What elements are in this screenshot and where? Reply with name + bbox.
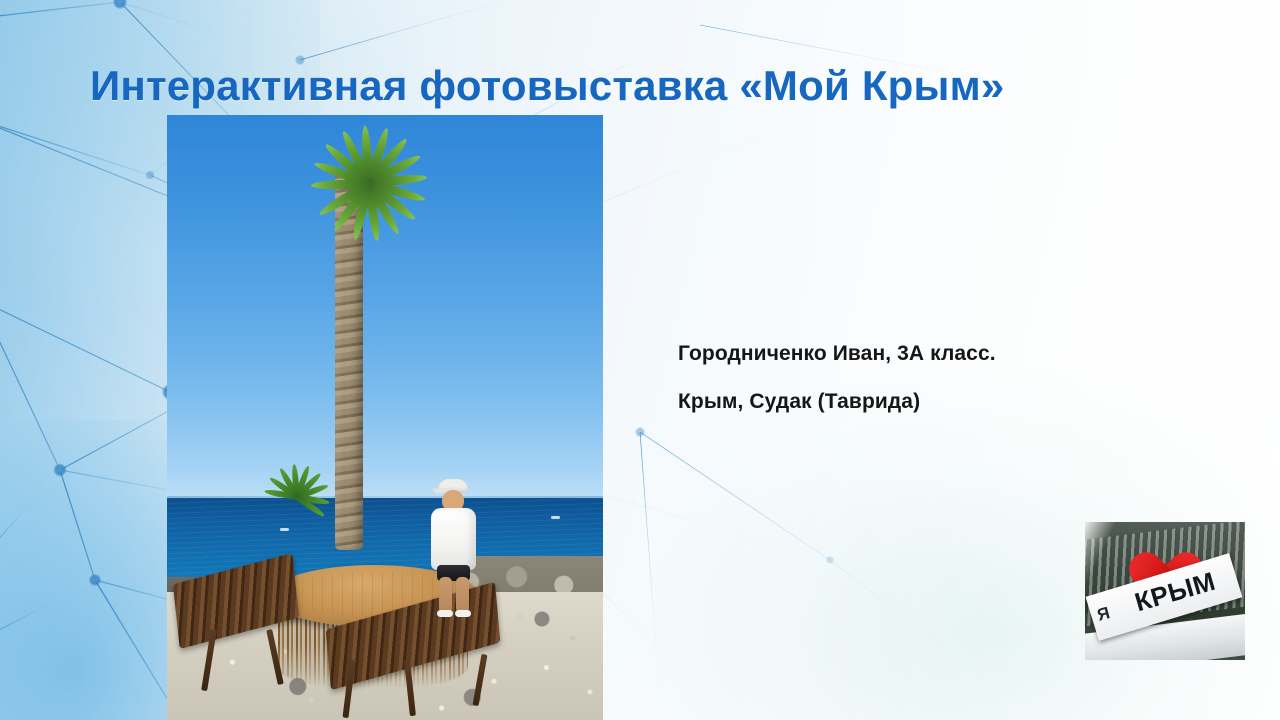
photo-palm-crown [311, 127, 431, 237]
photo-boat [280, 528, 289, 531]
exhibition-photo [167, 115, 603, 720]
photo-person-shirt [431, 508, 476, 570]
i-love-crimea-logo: Я КРЫМ [1085, 522, 1245, 660]
photo-person-sandal [455, 610, 471, 617]
photo-person [424, 479, 486, 619]
caption-line-location: Крым, Судак (Таврида) [678, 378, 1198, 426]
presentation-slide: Интерактивная фотовыставка «Мой Крым» [0, 0, 1280, 720]
logo-word-ya: Я [1095, 603, 1112, 625]
photo-small-palm-bush [263, 470, 333, 522]
photo-person-leg [439, 577, 452, 613]
photo-person-leg [456, 577, 469, 613]
photo-content [167, 115, 603, 720]
caption-line-author: Городниченко Иван, 3А класс. [678, 330, 1198, 378]
slide-title: Интерактивная фотовыставка «Мой Крым» [90, 62, 1260, 110]
photo-caption: Городниченко Иван, 3А класс. Крым, Судак… [678, 330, 1198, 426]
photo-person-sandal [437, 610, 453, 617]
photo-boat [551, 516, 560, 519]
